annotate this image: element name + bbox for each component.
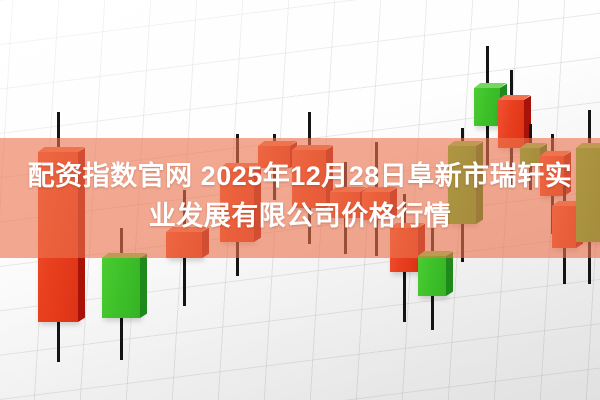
candle-body-side	[140, 254, 147, 318]
page-title: 配资指数官网 2025年12月28日阜新市瑞轩实 业发展有限公司价格行情	[0, 156, 600, 236]
candle-body-front	[102, 258, 140, 318]
candle-body-front	[474, 88, 500, 126]
title-line-2: 业发展有限公司价格行情	[0, 196, 600, 236]
title-line-1: 配资指数官网 2025年12月28日阜新市瑞轩实	[0, 156, 600, 196]
candle-body	[474, 88, 500, 126]
candle-body	[418, 256, 446, 296]
candle-body	[102, 258, 140, 318]
candlestick-banner: 配资指数官网 2025年12月28日阜新市瑞轩实 业发展有限公司价格行情	[0, 0, 600, 400]
candle-body-front	[418, 256, 446, 296]
